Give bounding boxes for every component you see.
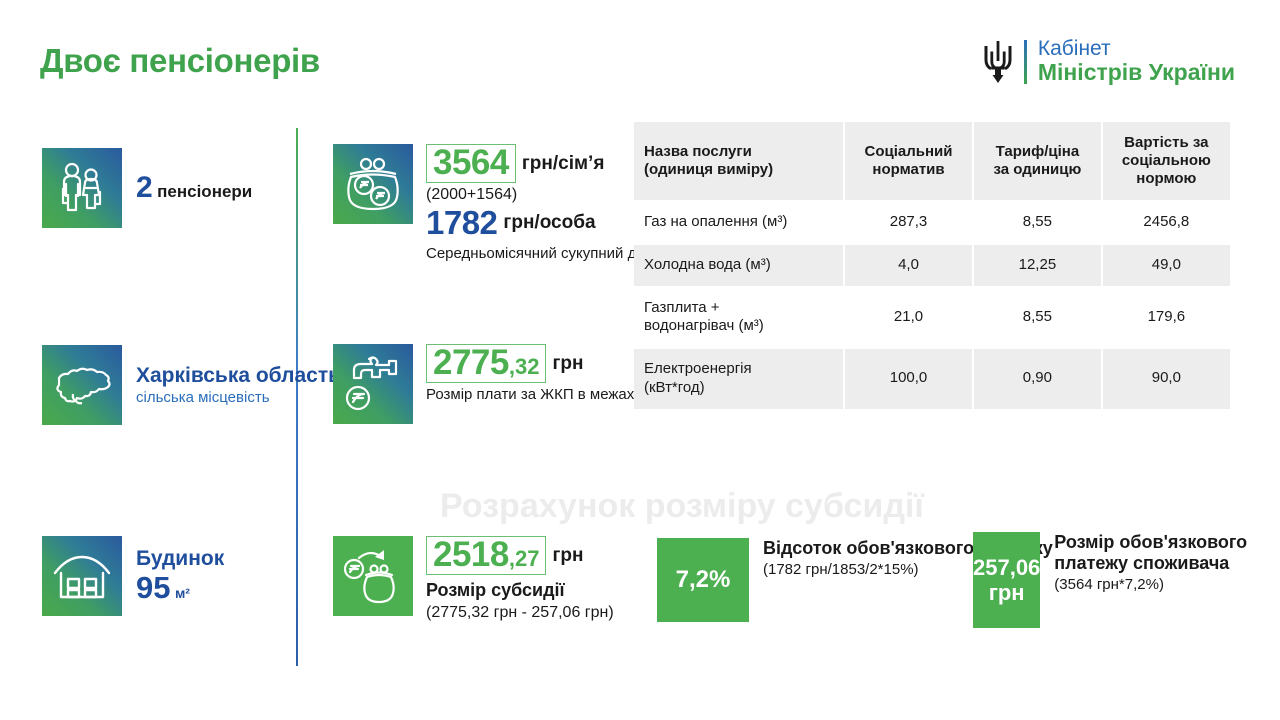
col-tariff-line2: за одиницю xyxy=(984,161,1091,179)
logo-line-cabinet: Кабінет xyxy=(1038,38,1235,60)
col-service-line1: Назва послуги xyxy=(644,143,833,161)
cell-tariff: 12,25 xyxy=(974,245,1101,286)
table-row: Холодна вода (м³) 4,0 12,25 49,0 xyxy=(634,245,1230,286)
cell-tariff: 8,55 xyxy=(974,288,1101,348)
obligatory-payment-block: 257,06 грн Розмір обов'язкового платежу … xyxy=(973,532,1280,628)
obligatory-value-box: 257,06 грн xyxy=(973,532,1040,628)
payment-amount-dec: ,32 xyxy=(509,354,540,379)
income-breakdown: (2000+1564) xyxy=(426,186,664,204)
column-header-service: Назва послуги (одиниця виміру) xyxy=(634,122,843,200)
obligatory-formula: (3564 грн*7,2%) xyxy=(1054,576,1280,593)
service-line1: Газплита + xyxy=(644,299,833,318)
income-person-unit: грн/особа xyxy=(503,212,595,233)
income-caption: Середньомісячний сукупний дохід xyxy=(426,245,664,263)
ukraine-map-icon xyxy=(42,345,122,425)
cell-tariff: 0,90 xyxy=(974,349,1101,409)
pensioners-label: пенсіонери xyxy=(157,182,252,201)
col-service-line2: (одиниця виміру) xyxy=(644,161,833,179)
faucet-coin-icon xyxy=(333,344,413,424)
cell-service: Газ на опалення (м³) xyxy=(634,202,843,243)
logo-divider xyxy=(1024,40,1027,84)
cell-cost: 2456,8 xyxy=(1103,202,1230,243)
house-block: Будинок 95 м² xyxy=(42,536,224,616)
subsidy-caption: Розмір субсидії xyxy=(426,580,614,601)
pensioners-count: 2 xyxy=(136,171,153,204)
service-line1: Електроенергія xyxy=(644,360,833,379)
cell-norm: 100,0 xyxy=(845,349,972,409)
subsidy-unit: грн xyxy=(552,545,583,566)
table-row: Електроенергія (кВт*год) 100,0 0,90 90,0 xyxy=(634,349,1230,409)
payment-block: 2775,32грн Розмір плати за ЖКП в межах н… xyxy=(333,344,674,424)
table-header-row: Назва послуги (одиниця виміру) Соціальни… xyxy=(634,122,1230,200)
income-person-amount: 1782 xyxy=(426,204,497,241)
col-tariff-line1: Тариф/ціна xyxy=(984,143,1091,161)
service-line2: водонагрівач (м³) xyxy=(644,317,833,336)
service-line1: Газ на опалення (м³) xyxy=(644,213,833,232)
obligatory-title: Розмір обов'язкового платежу споживача xyxy=(1054,532,1280,574)
table-row: Газплита + водонагрівач (м³) 21,0 8,55 1… xyxy=(634,288,1230,348)
house-title: Будинок xyxy=(136,547,224,571)
logo-line-ministers: Міністрів України xyxy=(1038,60,1235,85)
table-row: Газ на опалення (м³) 287,3 8,55 2456,8 xyxy=(634,202,1230,243)
column-header-norm: Соціальний норматив xyxy=(845,122,972,200)
cell-cost: 179,6 xyxy=(1103,288,1230,348)
house-area-unit: м² xyxy=(175,585,190,601)
col-norm-line1: Соціальний xyxy=(855,143,962,161)
income-family-amount: 3564 xyxy=(433,143,509,182)
elderly-couple-icon xyxy=(42,148,122,228)
income-family-unit: грн/сім’я xyxy=(522,153,605,174)
pensioners-block: 2 пенсіонери xyxy=(42,148,252,228)
payment-unit: грн xyxy=(552,353,583,374)
cell-norm: 21,0 xyxy=(845,288,972,348)
region-title: Харківська область xyxy=(136,364,341,388)
purse-coins-icon xyxy=(333,144,413,224)
service-line1: Холодна вода (м³) xyxy=(644,256,833,275)
col-cost-line1: Вартість за xyxy=(1113,134,1220,152)
house-icon xyxy=(42,536,122,616)
cell-tariff: 8,55 xyxy=(974,202,1101,243)
payment-amount-int: 2775 xyxy=(433,343,509,382)
cell-cost: 90,0 xyxy=(1103,349,1230,409)
cell-service: Електроенергія (кВт*год) xyxy=(634,349,843,409)
subsidy-block: 2518,27грн Розмір субсидії (2775,32 грн … xyxy=(333,536,614,622)
subsidy-formula: (2775,32 грн - 257,06 грн) xyxy=(426,604,614,622)
page-title: Двоє пенсіонерів xyxy=(40,42,320,80)
percent-value-box: 7,2% xyxy=(657,538,749,622)
cell-norm: 4,0 xyxy=(845,245,972,286)
cabinet-of-ministers-logo: Кабінет Міністрів України xyxy=(978,38,1235,85)
income-block: 3564грн/сім’я (2000+1564) 1782грн/особа … xyxy=(333,144,664,263)
subsidy-amount-dec: ,27 xyxy=(509,546,540,571)
house-area: 95 xyxy=(136,570,170,605)
service-line2: (кВт*год) xyxy=(644,379,833,398)
col-norm-line2: норматив xyxy=(855,161,962,179)
subsidy-amount-int: 2518 xyxy=(433,535,509,574)
cell-service: Холодна вода (м³) xyxy=(634,245,843,286)
watermark-text: Розрахунок розміру субсидії xyxy=(440,487,924,526)
tariff-table: Назва послуги (одиниця виміру) Соціальни… xyxy=(632,120,1232,411)
ukraine-trident-icon xyxy=(978,39,1018,85)
cell-service: Газплита + водонагрівач (м³) xyxy=(634,288,843,348)
column-header-tariff: Тариф/ціна за одиницю xyxy=(974,122,1101,200)
purse-arrow-icon xyxy=(333,536,413,616)
col-cost-line2: соціальною xyxy=(1113,152,1220,170)
cell-cost: 49,0 xyxy=(1103,245,1230,286)
cell-norm: 287,3 xyxy=(845,202,972,243)
region-block: Харківська область сільська місцевість xyxy=(42,345,341,425)
col-cost-line3: нормою xyxy=(1113,170,1220,188)
column-header-cost: Вартість за соціальною нормою xyxy=(1103,122,1230,200)
region-subtitle: сільська місцевість xyxy=(136,389,341,406)
